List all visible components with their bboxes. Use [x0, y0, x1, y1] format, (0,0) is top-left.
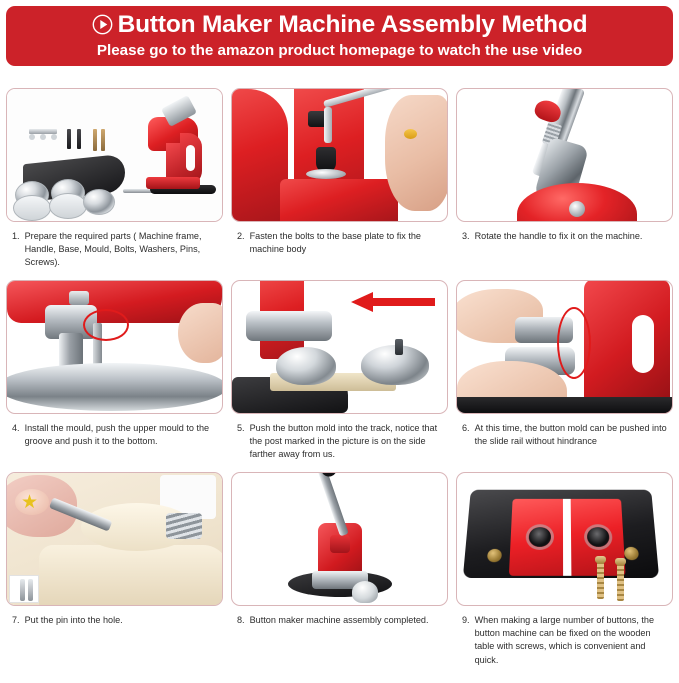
pin-inset-thumbnail — [9, 575, 39, 603]
step-caption-5: 5. Push the button mold into the track, … — [231, 414, 448, 472]
step-cell-8: 8. Button maker machine assembly complet… — [231, 472, 448, 667]
step-photo-1 — [6, 88, 223, 222]
step-number-3: 3. — [462, 230, 470, 280]
step-photo-7: ★ — [6, 472, 223, 606]
steps-grid: 1. Prepare the required parts ( Machine … — [6, 88, 673, 667]
step-photo-4 — [6, 280, 223, 414]
step-number-8: 8. — [237, 614, 245, 664]
play-circle-icon — [92, 14, 113, 35]
step-cell-4: 4. Install the mould, push the upper mou… — [6, 280, 223, 472]
step-photo-3 — [456, 88, 673, 222]
step-caption-7: 7. Put the pin into the hole. — [6, 606, 223, 664]
step-caption-6: 6. At this time, the button mold can be … — [456, 414, 673, 472]
step-photo-2 — [231, 88, 448, 222]
step-cell-9: 9. When making a large number of buttons… — [456, 472, 673, 667]
step-caption-1: 1. Prepare the required parts ( Machine … — [6, 222, 223, 280]
step-cell-6: 6. At this time, the button mold can be … — [456, 280, 673, 472]
highlight-ellipse-icon — [83, 309, 129, 341]
step-text-9: When making a large number of buttons, t… — [475, 614, 669, 667]
step-number-9: 9. — [462, 614, 470, 667]
step-caption-3: 3. Rotate the handle to fix it on the ma… — [456, 222, 673, 280]
step-number-4: 4. — [12, 422, 20, 472]
star-nail-art-icon: ★ — [21, 493, 38, 512]
step-text-8: Button maker machine assembly completed. — [250, 614, 444, 664]
left-arrow-icon — [351, 291, 435, 313]
step-number-2: 2. — [237, 230, 245, 280]
step-cell-2: 2. Fasten the bolts to the base plate to… — [231, 88, 448, 280]
step-photo-5 — [231, 280, 448, 414]
step-cell-1: 1. Prepare the required parts ( Machine … — [6, 88, 223, 280]
step-cell-5: 5. Push the button mold into the track, … — [231, 280, 448, 472]
step-text-5: Push the button mold into the track, not… — [250, 422, 444, 472]
header-banner: Button Maker Machine Assembly Method Ple… — [6, 6, 673, 66]
step-caption-9: 9. When making a large number of buttons… — [456, 606, 673, 667]
step-caption-4: 4. Install the mould, push the upper mou… — [6, 414, 223, 472]
step-text-2: Fasten the bolts to the base plate to fi… — [250, 230, 444, 280]
step-text-1: Prepare the required parts ( Machine fra… — [25, 230, 219, 280]
step-caption-2: 2. Fasten the bolts to the base plate to… — [231, 222, 448, 280]
step-photo-8 — [231, 472, 448, 606]
page-title: Button Maker Machine Assembly Method — [118, 12, 588, 38]
highlight-ellipse-icon — [557, 307, 591, 379]
step-text-7: Put the pin into the hole. — [25, 614, 219, 664]
step-text-4: Install the mould, push the upper mould … — [25, 422, 219, 472]
step-caption-8: 8. Button maker machine assembly complet… — [231, 606, 448, 664]
instruction-sheet: Button Maker Machine Assembly Method Ple… — [0, 6, 679, 683]
step-number-6: 6. — [462, 422, 470, 472]
step-photo-6 — [456, 280, 673, 414]
header-subtitle: Please go to the amazon product homepage… — [12, 42, 667, 59]
step-number-7: 7. — [12, 614, 20, 664]
step-text-6: At this time, the button mold can be pus… — [475, 422, 669, 472]
step-text-3: Rotate the handle to fix it on the machi… — [475, 230, 669, 280]
step-cell-7: ★ 7. Put the pin into the hole. — [6, 472, 223, 667]
step-cell-3: 3. Rotate the handle to fix it on the ma… — [456, 88, 673, 280]
step-photo-9 — [456, 472, 673, 606]
header-title-row: Button Maker Machine Assembly Method — [12, 12, 667, 38]
step-number-1: 1. — [12, 230, 20, 280]
step-number-5: 5. — [237, 422, 245, 472]
